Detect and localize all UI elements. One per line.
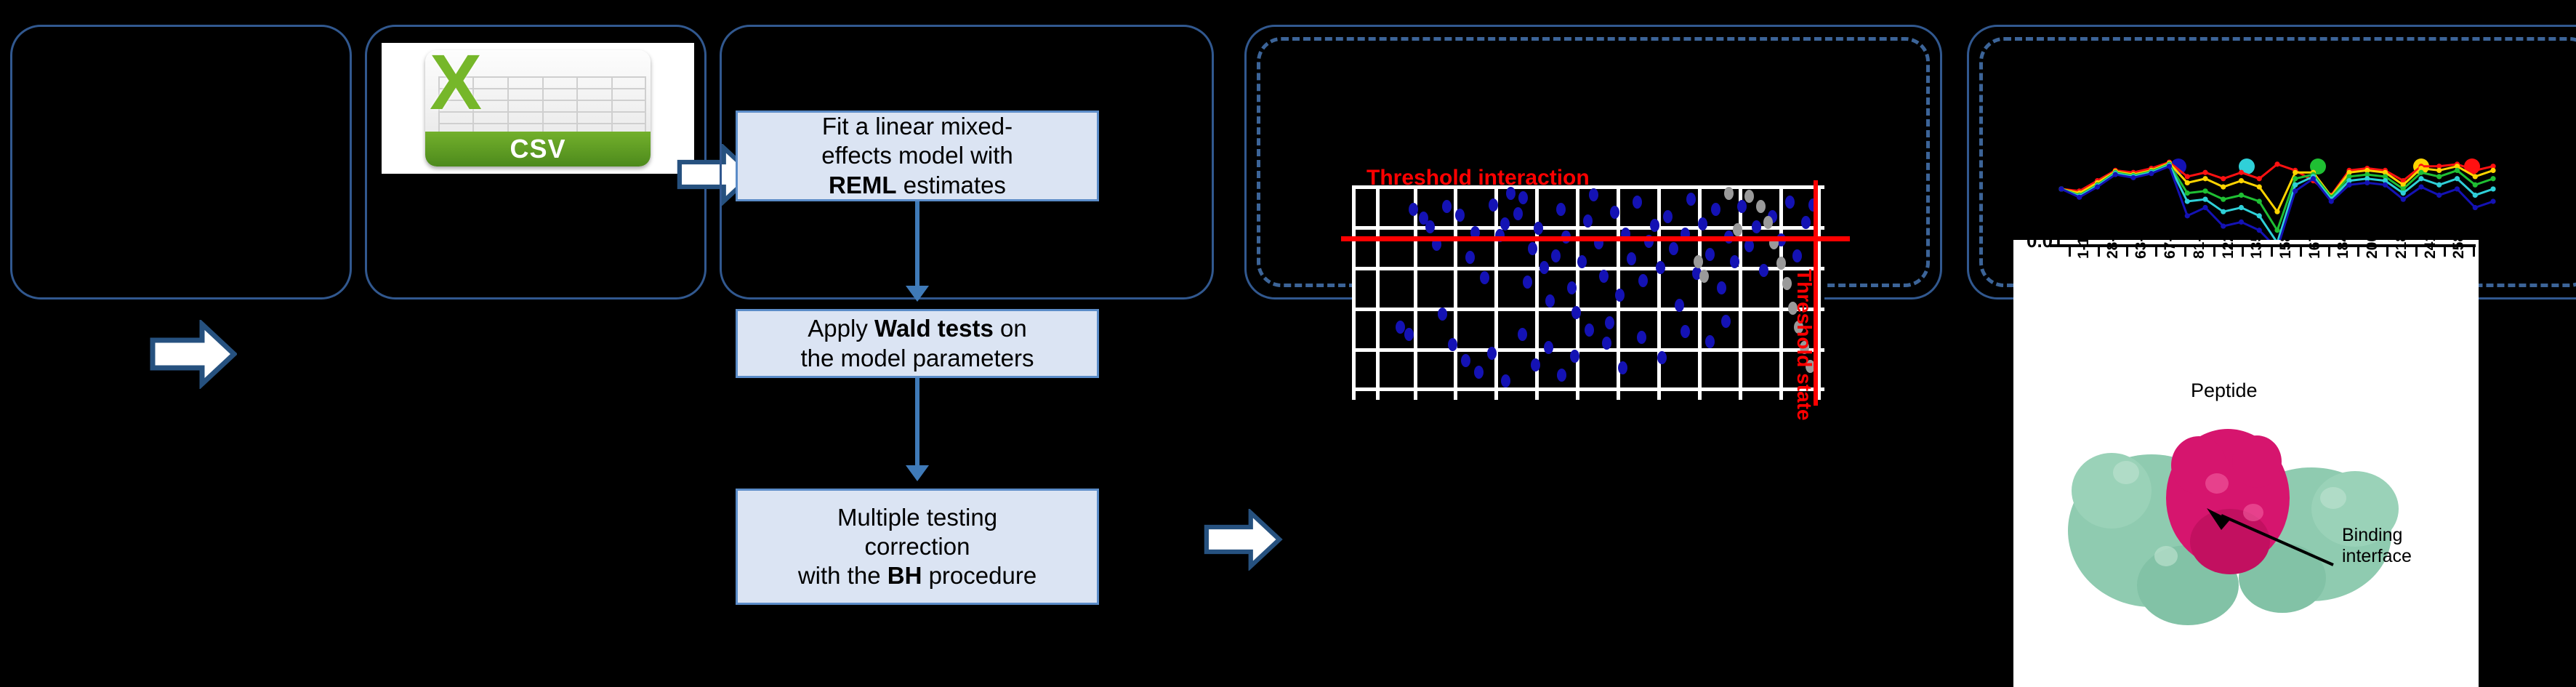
csv-format-label: CSV xyxy=(510,134,565,164)
peptide-tick-label: 218-237 xyxy=(2393,240,2410,259)
peptide-structure-card: 0.01 1-1528-4463-7367-7581-101122-129135… xyxy=(2013,240,2479,687)
peptide-tick xyxy=(2155,247,2157,257)
peptide-tick-label: 135-144 xyxy=(2248,240,2266,259)
peptide-tick xyxy=(2444,247,2446,257)
peptide-tick xyxy=(2357,247,2359,257)
step3-bold: BH xyxy=(887,562,922,589)
step-wald-tests: Apply Wald tests on the model parameters xyxy=(736,309,1099,378)
peptide-tick xyxy=(2098,247,2100,257)
step-multiple-testing-correction: Multiple testing correction with the BH … xyxy=(736,489,1099,605)
peptide-tick xyxy=(2184,247,2186,257)
peptide-tick-label: 200-214 xyxy=(2364,240,2381,259)
peptide-tick-label: 1-15 xyxy=(2075,240,2093,259)
step3-line1: Multiple testing xyxy=(837,503,997,532)
step1-line3: REML estimates xyxy=(829,171,1006,200)
peptide-tick xyxy=(2300,247,2302,257)
peptide-tick-label: 28-44 xyxy=(2104,240,2122,259)
peptide-tick-label: 241-257 xyxy=(2422,240,2439,259)
step3-line2: correction xyxy=(865,532,970,561)
threshold-state-label: Threshold state xyxy=(1792,269,1816,420)
step3-pre: with the xyxy=(798,562,887,589)
peptide-tick xyxy=(2213,247,2215,257)
peptide-tick-label: 184-199 xyxy=(2335,240,2352,259)
step-fit-model: Fit a linear mixed- effects model with R… xyxy=(736,111,1099,201)
excel-x-letter: X xyxy=(430,50,482,121)
peptide-tick xyxy=(2126,247,2128,257)
step2-bold: Wald tests xyxy=(874,315,994,342)
csv-icon-frame: X CSV xyxy=(382,43,694,174)
binding-interface-label: Binding interface xyxy=(2342,525,2412,567)
step3-line3: with the BH procedure xyxy=(798,561,1037,590)
peptide-tick-label: 63-73 xyxy=(2133,240,2150,259)
peptide-tick xyxy=(2242,247,2244,257)
step1-line1: Fit a linear mixed- xyxy=(822,112,1013,141)
connector-step2-step3-arrowhead xyxy=(906,465,929,481)
peptide-tick xyxy=(2328,247,2330,257)
binding-label-line2: interface xyxy=(2342,546,2412,567)
arrow-model-to-results-icon xyxy=(1203,509,1283,571)
panel-csv-file: X CSV xyxy=(365,25,707,300)
panel-input-data xyxy=(10,25,352,300)
step2-line1: Apply Wald tests on xyxy=(808,314,1026,343)
peptide-tick xyxy=(2386,247,2388,257)
connector-step2-step3 xyxy=(915,378,919,467)
binding-label-line1: Binding xyxy=(2342,525,2412,546)
csv-file-icon: X CSV xyxy=(425,50,651,166)
step1-bold: REML xyxy=(829,172,897,198)
peptide-tick-label: 67-75 xyxy=(2162,240,2179,259)
peptide-tick-label: 258-266 xyxy=(2450,240,2468,259)
peptide-tick xyxy=(2415,247,2418,257)
step3-post: procedure xyxy=(922,562,1037,589)
step2-post: on xyxy=(994,315,1027,342)
step2-line2: the model parameters xyxy=(801,344,1034,373)
peptide-tick xyxy=(2271,247,2273,257)
peptide-tick-label: 158-166 xyxy=(2277,240,2295,259)
csv-format-band: CSV xyxy=(425,132,651,166)
peptide-uptake-linechart xyxy=(2006,145,2500,254)
connector-step1-step2 xyxy=(915,201,919,287)
arrow-into-csv-icon xyxy=(150,320,237,389)
threshold-interaction-line xyxy=(1341,236,1850,241)
binding-interface-arrow-icon xyxy=(2195,505,2340,571)
peptide-tick xyxy=(2069,247,2071,257)
volcano-plot-chart xyxy=(1352,185,1824,400)
peptide-tick-label: 122-129 xyxy=(2220,240,2237,259)
step2-pre: Apply xyxy=(808,315,874,342)
step1-line2: effects model with xyxy=(821,141,1013,170)
step1-tail: estimates xyxy=(897,172,1006,198)
peptide-tick-label: 81-101 xyxy=(2191,240,2208,259)
peptide-axis-title: Peptide xyxy=(2191,379,2258,402)
peptide-tick xyxy=(2473,247,2475,257)
connector-step1-step2-arrowhead xyxy=(906,286,929,302)
peptide-tick-label: 167-180 xyxy=(2306,240,2324,259)
